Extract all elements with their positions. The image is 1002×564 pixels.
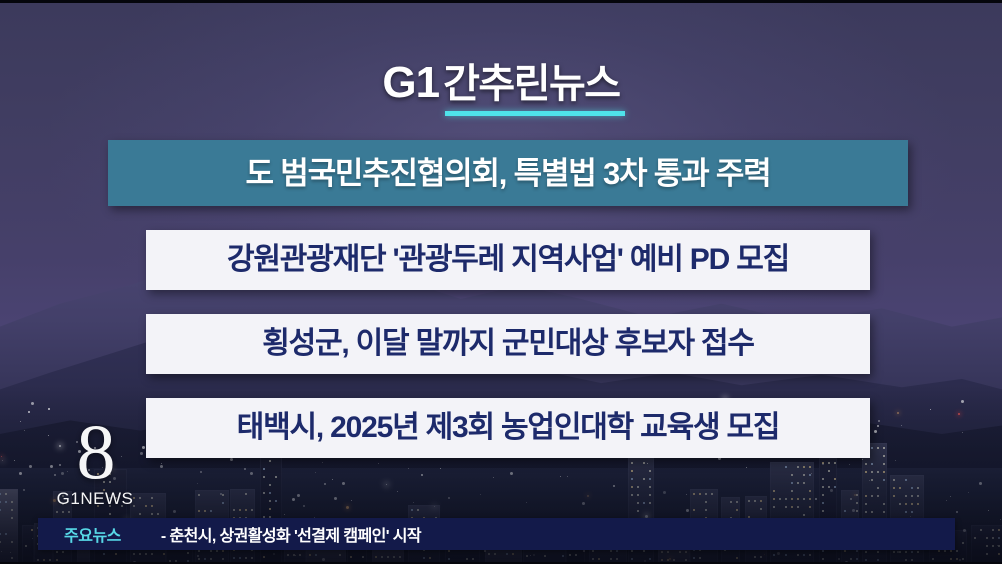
channel-logo-g1: G1 <box>382 61 439 105</box>
building-window <box>773 490 775 492</box>
building-window <box>423 557 425 559</box>
building-window <box>899 487 901 489</box>
building-window <box>222 558 224 560</box>
building-window <box>610 550 612 552</box>
building-window <box>760 556 762 558</box>
building-window <box>822 486 824 488</box>
building-window <box>275 500 277 502</box>
building-window <box>151 497 153 499</box>
building-window <box>239 557 241 559</box>
building-window <box>245 509 247 511</box>
city-building <box>22 525 34 564</box>
building-window <box>986 545 988 547</box>
city-light <box>583 550 585 552</box>
city-light <box>297 494 300 497</box>
building-window <box>917 495 919 497</box>
city-light <box>1 551 2 552</box>
building-window <box>791 506 793 508</box>
building-window <box>956 550 958 552</box>
building-window <box>145 505 147 507</box>
headline-item[interactable]: 태백시, 2025년 제3회 농업인대학 교육생 모집 <box>146 398 870 458</box>
building-window <box>822 558 824 560</box>
city-light <box>1000 519 1001 520</box>
building-window <box>822 550 824 552</box>
building-window <box>791 490 793 492</box>
city-light <box>946 500 947 501</box>
building-window <box>998 537 1000 539</box>
city-light <box>663 491 666 494</box>
city-light <box>10 552 11 553</box>
city-light <box>173 510 176 513</box>
building-window <box>649 494 651 496</box>
city-light <box>852 509 855 512</box>
building-window <box>198 494 200 496</box>
building-window <box>381 556 383 558</box>
building-window <box>56 511 58 513</box>
building-window <box>760 500 762 502</box>
city-light <box>968 492 969 493</box>
city-light <box>956 511 958 513</box>
city-light <box>324 483 326 485</box>
building-window <box>685 559 687 561</box>
city-light <box>303 505 305 507</box>
building-window <box>139 553 141 555</box>
building-window <box>56 559 58 561</box>
building-window <box>809 498 811 500</box>
building-window <box>893 551 895 553</box>
building-window <box>488 553 490 555</box>
watermark-station-name: G1NEWS <box>57 489 134 509</box>
building-window <box>222 502 224 504</box>
building-window <box>204 510 206 512</box>
building-window <box>592 558 594 560</box>
building-window <box>472 558 474 560</box>
building-window <box>5 501 7 503</box>
building-window <box>950 550 952 552</box>
building-window <box>399 556 401 558</box>
news-ticker-bar: 주요뉴스 - 춘천시, 상권활성화 '선결제 캠페인' 시작 <box>38 518 955 550</box>
building-window <box>198 558 200 560</box>
city-light <box>197 555 199 557</box>
building-window <box>962 558 964 560</box>
building-window <box>797 506 799 508</box>
building-window <box>998 553 1000 555</box>
building-window <box>809 490 811 492</box>
broadcast-screen: G1 간추린뉴스 도 범국민추진협의회, 특별법 3차 통과 주력 강원관광재단… <box>0 0 1002 564</box>
building-window <box>748 500 750 502</box>
building-window <box>785 498 787 500</box>
building-window <box>661 559 663 561</box>
building-window <box>736 509 738 511</box>
building-window <box>661 551 663 553</box>
city-light <box>32 538 33 539</box>
building-window <box>871 495 873 497</box>
building-window <box>865 503 867 505</box>
building-window <box>350 556 352 558</box>
city-light <box>669 558 671 560</box>
building-window <box>791 498 793 500</box>
building-window <box>49 559 51 561</box>
building-window <box>299 554 301 556</box>
building-window <box>494 553 496 555</box>
building-window <box>905 551 907 553</box>
building-window <box>779 498 781 500</box>
city-light <box>950 496 951 497</box>
building-window <box>251 557 253 559</box>
building-window <box>986 553 988 555</box>
city-light <box>587 495 589 497</box>
building-window <box>145 553 147 555</box>
building-window <box>575 554 577 556</box>
building-window <box>773 506 775 508</box>
building-window <box>133 553 135 555</box>
city-light <box>613 485 615 487</box>
building-window <box>0 541 1 543</box>
building-window <box>31 529 33 531</box>
city-light <box>854 494 856 496</box>
building-window <box>693 557 695 559</box>
building-window <box>643 502 645 504</box>
building-window <box>375 556 377 558</box>
building-window <box>844 550 846 552</box>
building-window <box>393 556 395 558</box>
building-window <box>785 506 787 508</box>
building-window <box>865 551 867 553</box>
building-window <box>37 559 39 561</box>
building-window <box>932 558 934 560</box>
city-light <box>838 558 840 560</box>
city-light <box>23 489 25 491</box>
city-light <box>910 516 911 517</box>
building-window <box>893 487 895 489</box>
building-window <box>844 510 846 512</box>
city-light <box>686 509 689 512</box>
building-window <box>822 502 824 504</box>
building-window <box>917 503 919 505</box>
building-window <box>685 551 687 553</box>
building-window <box>506 553 508 555</box>
building-window <box>151 553 153 555</box>
building-window <box>309 554 311 556</box>
building-window <box>865 511 867 513</box>
city-light <box>815 498 817 500</box>
ticker-headline: - 춘천시, 상권활성화 '선결제 캠페인' 시작 <box>161 522 421 546</box>
building-window <box>797 554 799 556</box>
building-window <box>950 558 952 560</box>
building-window <box>245 493 247 495</box>
building-window <box>883 511 885 513</box>
city-light <box>197 483 198 484</box>
building-window <box>0 501 1 503</box>
building-window <box>962 542 964 544</box>
building-window <box>911 503 913 505</box>
building-window <box>210 510 212 512</box>
building-window <box>56 551 58 553</box>
building-window <box>512 553 514 555</box>
building-window <box>631 558 633 560</box>
building-window <box>569 554 571 556</box>
building-window <box>905 559 907 561</box>
building-window <box>448 550 450 552</box>
building-window <box>667 551 669 553</box>
city-light <box>346 506 349 509</box>
city-light <box>480 494 481 495</box>
headline-text: 태백시, 2025년 제3회 농업인대학 교육생 모집 <box>237 413 780 443</box>
building-window <box>856 510 858 512</box>
building-window <box>905 511 907 513</box>
letterbox-top <box>0 0 1002 3</box>
building-window <box>339 554 341 556</box>
city-light <box>850 498 852 500</box>
city-light <box>292 498 295 501</box>
building-window <box>834 486 836 488</box>
building-window <box>157 513 159 515</box>
building-window <box>992 545 994 547</box>
building-window <box>785 554 787 556</box>
building-window <box>269 492 271 494</box>
building-window <box>187 552 189 554</box>
building-window <box>911 551 913 553</box>
building-window <box>679 551 681 553</box>
building-window <box>911 487 913 489</box>
building-window <box>0 509 1 511</box>
logo-underline-accent <box>445 111 625 116</box>
city-light <box>963 529 966 532</box>
building-window <box>245 557 247 559</box>
building-window <box>856 550 858 552</box>
building-window <box>269 508 271 510</box>
building-window <box>673 559 675 561</box>
city-light <box>484 550 486 552</box>
building-window <box>526 555 528 557</box>
building-window <box>803 554 805 556</box>
building-window <box>649 486 651 488</box>
building-window <box>269 500 271 502</box>
building-window <box>269 484 271 486</box>
building-window <box>43 559 45 561</box>
program-logo-row: G1 간추린뉴스 <box>382 61 619 105</box>
building-window <box>705 509 707 511</box>
city-light <box>273 553 275 555</box>
city-light <box>979 482 982 485</box>
building-window <box>139 513 141 515</box>
building-window <box>631 550 633 552</box>
building-window <box>263 556 265 558</box>
building-window <box>693 493 695 495</box>
building-window <box>773 554 775 556</box>
city-light <box>582 502 585 505</box>
city-light <box>295 555 296 556</box>
building-window <box>773 498 775 500</box>
building-window <box>68 511 70 513</box>
building-window <box>797 482 799 484</box>
building-window <box>754 556 756 558</box>
city-light <box>334 497 337 500</box>
building-window <box>631 494 633 496</box>
building-window <box>198 510 200 512</box>
building-window <box>429 557 431 559</box>
city-light <box>351 500 352 501</box>
building-window <box>643 550 645 552</box>
building-window <box>216 550 218 552</box>
building-window <box>637 486 639 488</box>
building-window <box>871 511 873 513</box>
building-window <box>699 557 701 559</box>
building-window <box>877 551 879 553</box>
building-window <box>992 529 994 531</box>
building-window <box>917 487 919 489</box>
building-window <box>25 545 27 547</box>
building-window <box>466 558 468 560</box>
building-window <box>899 503 901 505</box>
city-light <box>220 493 222 495</box>
building-window <box>362 556 364 558</box>
building-window <box>693 509 695 511</box>
building-window <box>850 558 852 560</box>
building-window <box>956 558 958 560</box>
building-window <box>387 556 389 558</box>
city-light <box>686 494 687 495</box>
building-window <box>828 486 830 488</box>
building-window <box>865 559 867 561</box>
building-window <box>11 557 13 559</box>
city-light <box>526 502 527 503</box>
building-window <box>448 558 450 560</box>
building-window <box>736 557 738 559</box>
headline-item[interactable]: 강원관광재단 '관광두레 지역사업' 예비 PD 모집 <box>146 230 870 290</box>
building-window <box>5 533 7 535</box>
building-window <box>883 503 885 505</box>
building-window <box>544 555 546 557</box>
building-window <box>151 505 153 507</box>
building-window <box>905 495 907 497</box>
city-light <box>988 510 989 511</box>
building-window <box>222 550 224 552</box>
city-light <box>284 514 285 515</box>
city-light <box>342 482 345 485</box>
building-window <box>204 558 206 560</box>
building-window <box>562 555 564 557</box>
city-light <box>533 554 535 556</box>
building-window <box>163 553 165 555</box>
building-window <box>62 551 64 553</box>
building-window <box>233 557 235 559</box>
building-window <box>998 529 1000 531</box>
building-window <box>287 554 289 556</box>
city-light <box>448 497 450 499</box>
building-window <box>263 492 265 494</box>
building-window <box>115 553 117 555</box>
city-light <box>397 491 398 492</box>
building-window <box>803 514 805 516</box>
building-window <box>803 498 805 500</box>
building-window <box>610 558 612 560</box>
building-window <box>705 493 707 495</box>
building-window <box>598 558 600 560</box>
headline-text: 강원관광재단 '관광두레 지역사업' 예비 PD 모집 <box>227 245 789 275</box>
building-window <box>877 559 879 561</box>
headline-item-active[interactable]: 도 범국민추진협의회, 특별법 3차 통과 주력 <box>108 140 908 206</box>
program-logo: G1 간추린뉴스 <box>0 61 1002 116</box>
headline-text: 도 범국민추진협의회, 특별법 3차 통과 주력 <box>246 158 771 189</box>
building-window <box>417 509 419 511</box>
city-light <box>764 554 765 555</box>
ticker-label: 주요뉴스 <box>64 522 121 546</box>
building-window <box>109 513 111 515</box>
building-window <box>911 559 913 561</box>
building-window <box>103 553 105 555</box>
building-window <box>809 506 811 508</box>
building-window <box>11 517 13 519</box>
building-window <box>699 493 701 495</box>
building-window <box>865 495 867 497</box>
building-window <box>877 495 879 497</box>
building-window <box>11 509 13 511</box>
building-window <box>893 495 895 497</box>
building-window <box>899 551 901 553</box>
building-window <box>905 503 907 505</box>
building-window <box>637 502 639 504</box>
building-window <box>974 537 976 539</box>
city-light <box>830 489 833 492</box>
city-light <box>434 506 435 507</box>
building-window <box>0 533 1 535</box>
building-window <box>251 509 253 511</box>
building-window <box>0 493 1 495</box>
building-window <box>233 509 235 511</box>
building-window <box>856 558 858 560</box>
building-window <box>911 495 913 497</box>
city-light <box>997 545 998 546</box>
building-window <box>5 493 7 495</box>
building-window <box>616 550 618 552</box>
program-title: 간추린뉴스 <box>443 64 620 104</box>
building-window <box>210 550 212 552</box>
building-window <box>938 550 940 552</box>
building-window <box>705 501 707 503</box>
building-window <box>917 551 919 553</box>
building-window <box>592 550 594 552</box>
building-window <box>139 497 141 499</box>
city-building <box>0 489 18 564</box>
building-window <box>730 501 732 503</box>
building-window <box>222 494 224 496</box>
building-window <box>315 554 317 556</box>
building-window <box>62 511 64 513</box>
building-window <box>911 511 913 513</box>
building-window <box>998 545 1000 547</box>
city-light <box>897 551 899 553</box>
city-light <box>777 552 780 555</box>
building-window <box>637 510 639 512</box>
headline-text: 횡성군, 이달 말까지 군민대상 후보자 접수 <box>262 329 754 359</box>
building-window <box>797 498 799 500</box>
building-window <box>760 508 762 510</box>
building-window <box>198 550 200 552</box>
building-window <box>637 494 639 496</box>
headline-item[interactable]: 횡성군, 이달 말까지 군민대상 후보자 접수 <box>146 314 870 374</box>
building-window <box>711 493 713 495</box>
headline-list: 도 범국민추진협의회, 특별법 3차 통과 주력 강원관광재단 '관광두레 지역… <box>0 140 1002 482</box>
building-window <box>822 510 824 512</box>
building-window <box>210 558 212 560</box>
building-window <box>736 501 738 503</box>
building-window <box>992 537 994 539</box>
building-window <box>649 558 651 560</box>
building-window <box>856 502 858 504</box>
building-window <box>980 529 982 531</box>
building-window <box>856 494 858 496</box>
